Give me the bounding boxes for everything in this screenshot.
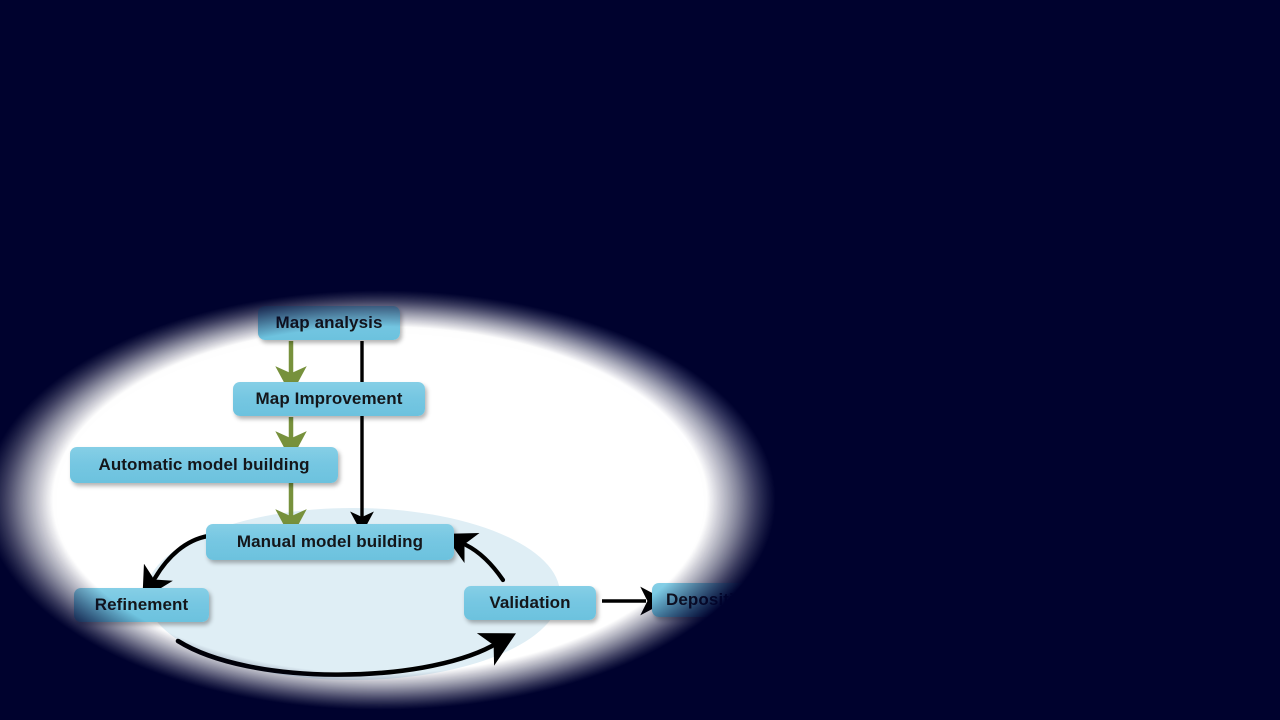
node-deposition[interactable]: Deposition: [652, 583, 802, 617]
node-map-improvement[interactable]: Map Improvement: [233, 382, 425, 416]
node-manual-model-building[interactable]: Manual model building: [206, 524, 454, 560]
edge-validation-to-manual-build: [466, 545, 503, 580]
edge-manual-build-to-refinement: [155, 536, 208, 578]
node-refinement[interactable]: Refinement: [74, 588, 209, 622]
node-automatic-model-building[interactable]: Automatic model building: [70, 447, 338, 483]
slide-canvas: Tutorial Tutorial Cryo-EM tools: [0, 0, 1280, 720]
cryoem-workflow-diagram: Map analysis Map Improvement Automatic m…: [0, 0, 1280, 720]
edge-refinement-to-validation: [178, 641, 492, 675]
node-map-analysis[interactable]: Map analysis: [258, 306, 400, 340]
node-validation[interactable]: Validation: [464, 586, 596, 620]
